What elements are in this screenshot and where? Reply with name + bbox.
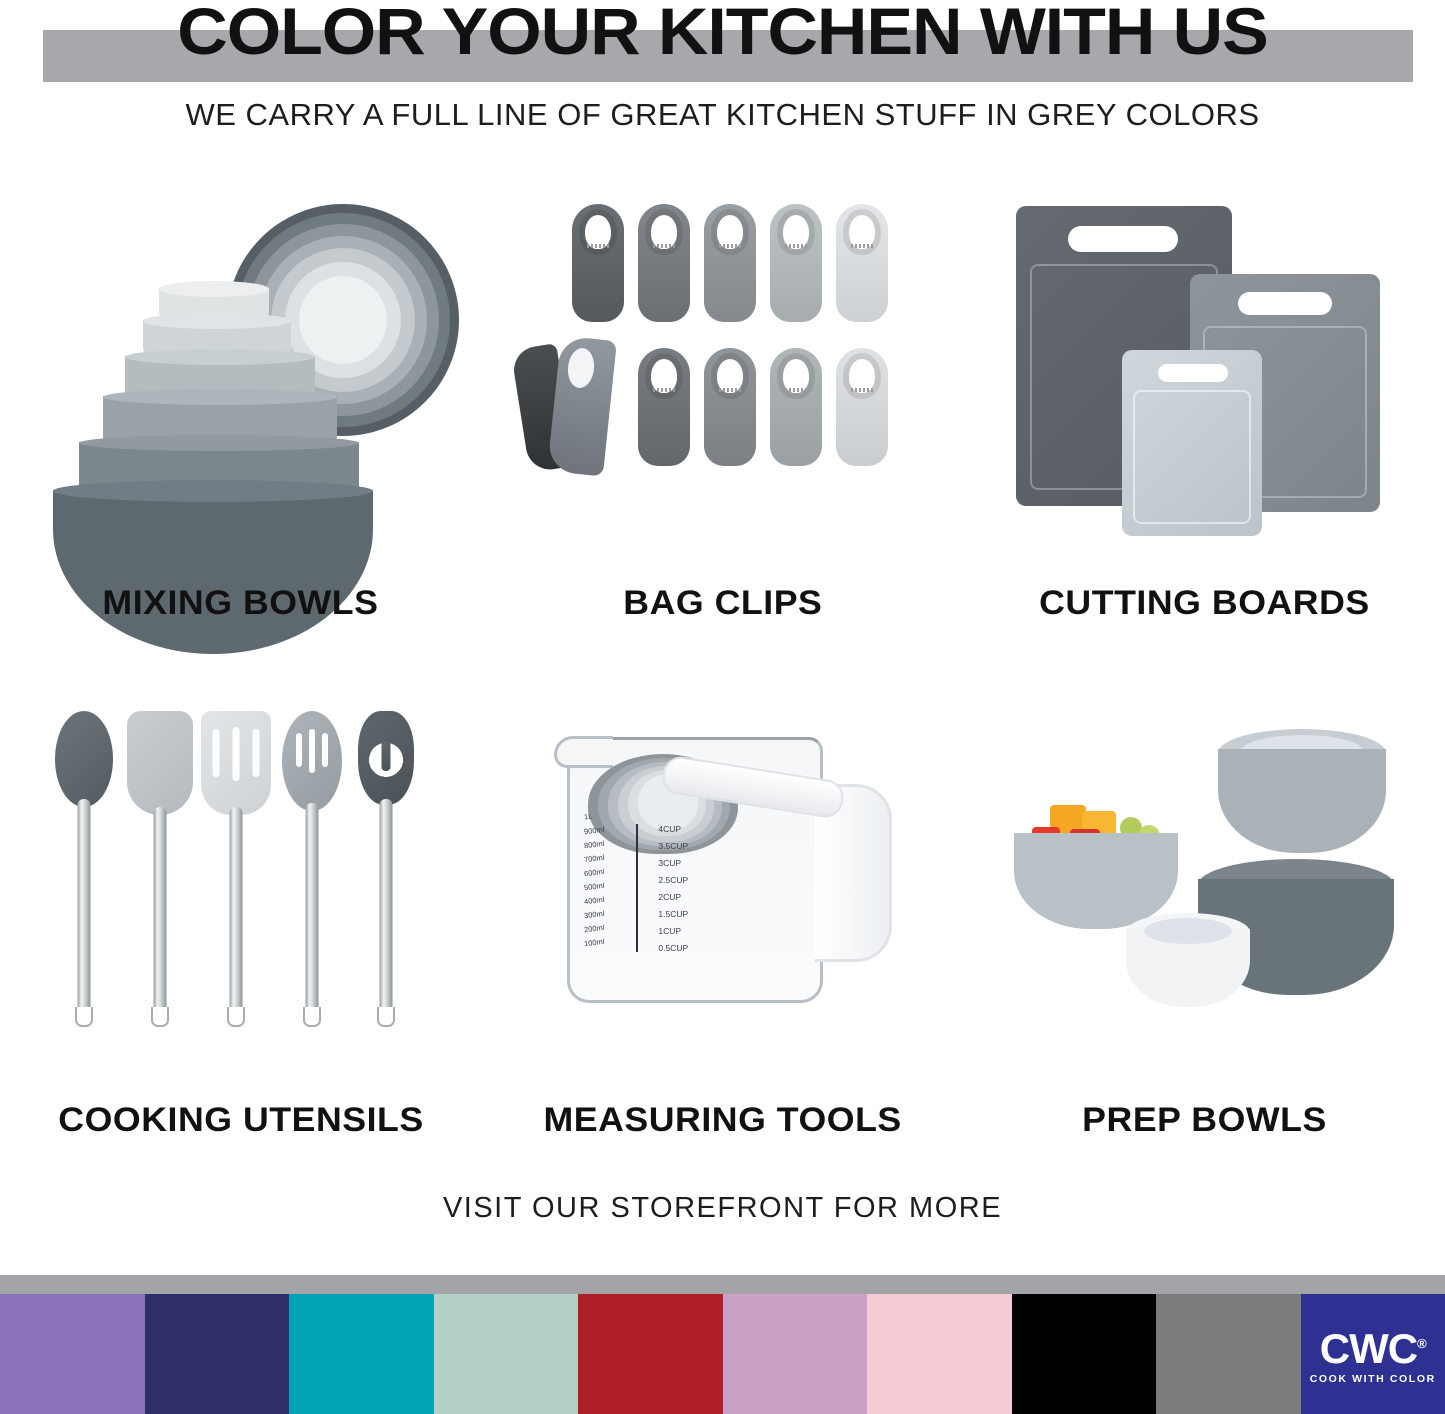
brand-tagline: COOK WITH COLOR <box>1310 1373 1436 1385</box>
utensil-spatula <box>129 707 191 1067</box>
color-swatch-purple <box>0 1294 145 1414</box>
registered-icon: ® <box>1417 1336 1426 1351</box>
product-cell-cooking-utensils[interactable]: COOKING UTENSILS <box>0 707 482 1140</box>
product-label-prep-bowls: PREP BOWLS <box>1082 1101 1327 1140</box>
utensil-spoon <box>53 707 115 1067</box>
product-label-mixing-bowls: MIXING BOWLS <box>103 584 379 623</box>
brand-logo: CWC® COOK WITH COLOR <box>1301 1294 1445 1414</box>
brand-mark: CWC® <box>1320 1324 1426 1369</box>
bag-clip-side-view <box>518 338 630 478</box>
prep-bowl-medium <box>1218 749 1386 853</box>
bag-clip-8 <box>770 348 822 466</box>
color-swatch-strip: CWC® COOK WITH COLOR <box>0 1294 1445 1414</box>
color-swatch-grey <box>1156 1294 1301 1414</box>
product-cell-mixing-bowls[interactable]: MIXING BOWLS <box>0 180 482 623</box>
color-swatch-teal <box>289 1294 434 1414</box>
product-label-measuring-tools: MEASURING TOOLS <box>543 1101 901 1140</box>
color-swatch-navy <box>145 1294 290 1414</box>
scale-axis <box>636 824 638 952</box>
bottom-gray-bar <box>0 1275 1445 1294</box>
bowl-lid-core <box>299 276 387 364</box>
color-swatch-black <box>1012 1294 1157 1414</box>
cooking-utensils-image <box>31 707 451 1097</box>
storefront-note: VISIT OUR STOREFRONT FOR MORE <box>0 1192 1445 1225</box>
color-swatch-blush-pink <box>867 1294 1012 1414</box>
mixing-bowls-image <box>31 180 451 580</box>
bag-clip-6 <box>638 348 690 466</box>
product-label-cutting-boards: CUTTING BOARDS <box>1039 584 1370 623</box>
page-title: COLOR YOUR KITCHEN WITH US <box>0 0 1445 67</box>
product-cell-bag-clips[interactable]: BAG CLIPS <box>482 180 964 623</box>
utensil-pasta-server <box>355 707 417 1067</box>
bag-clip-2 <box>638 204 690 322</box>
mixing-bowl-6 <box>53 490 373 654</box>
product-label-cooking-utensils: COOKING UTENSILS <box>58 1101 423 1140</box>
color-swatch-sage <box>434 1294 579 1414</box>
color-swatch-orchid <box>723 1294 868 1414</box>
page-subtitle: WE CARRY A FULL LINE OF GREAT KITCHEN ST… <box>0 97 1445 133</box>
product-infographic: COLOR YOUR KITCHEN WITH US WE CARRY A FU… <box>0 0 1445 1414</box>
cutting-board-small <box>1122 350 1262 536</box>
prep-bowl-lid-small-inner <box>1144 918 1232 944</box>
measuring-jug: 1L 900ml 800ml 700ml 600ml 500ml 400ml 3… <box>567 737 823 1003</box>
product-cell-prep-bowls[interactable]: PREP BOWLS <box>963 707 1445 1140</box>
bag-clips-image <box>512 180 932 580</box>
utensil-slotted-turner <box>205 707 267 1067</box>
bag-clip-9 <box>836 348 888 466</box>
brand-mark-text: CWC <box>1320 1325 1417 1372</box>
bag-clip-7 <box>704 348 756 466</box>
product-row-2: COOKING UTENSILS <box>0 707 1445 1140</box>
measuring-tools-image: 1L 900ml 800ml 700ml 600ml 500ml 400ml 3… <box>512 707 932 1097</box>
bag-clip-1 <box>572 204 624 322</box>
bag-clip-3 <box>704 204 756 322</box>
prep-bowl-with-fruit <box>1014 833 1178 929</box>
bag-clip-4 <box>770 204 822 322</box>
prep-bowls-image <box>994 707 1414 1097</box>
product-grid: MIXING BOWLS <box>0 180 1445 1140</box>
color-swatch-brand-blue: CWC® COOK WITH COLOR <box>1301 1294 1445 1414</box>
utensil-slotted-spoon <box>281 707 343 1067</box>
bag-clip-5 <box>836 204 888 322</box>
color-swatch-red <box>578 1294 723 1414</box>
product-cell-measuring-tools[interactable]: 1L 900ml 800ml 700ml 600ml 500ml 400ml 3… <box>482 707 964 1140</box>
cutting-boards-image <box>994 180 1414 580</box>
product-cell-cutting-boards[interactable]: CUTTING BOARDS <box>963 180 1445 623</box>
product-label-bag-clips: BAG CLIPS <box>623 584 822 623</box>
product-row-1: MIXING BOWLS <box>0 180 1445 623</box>
